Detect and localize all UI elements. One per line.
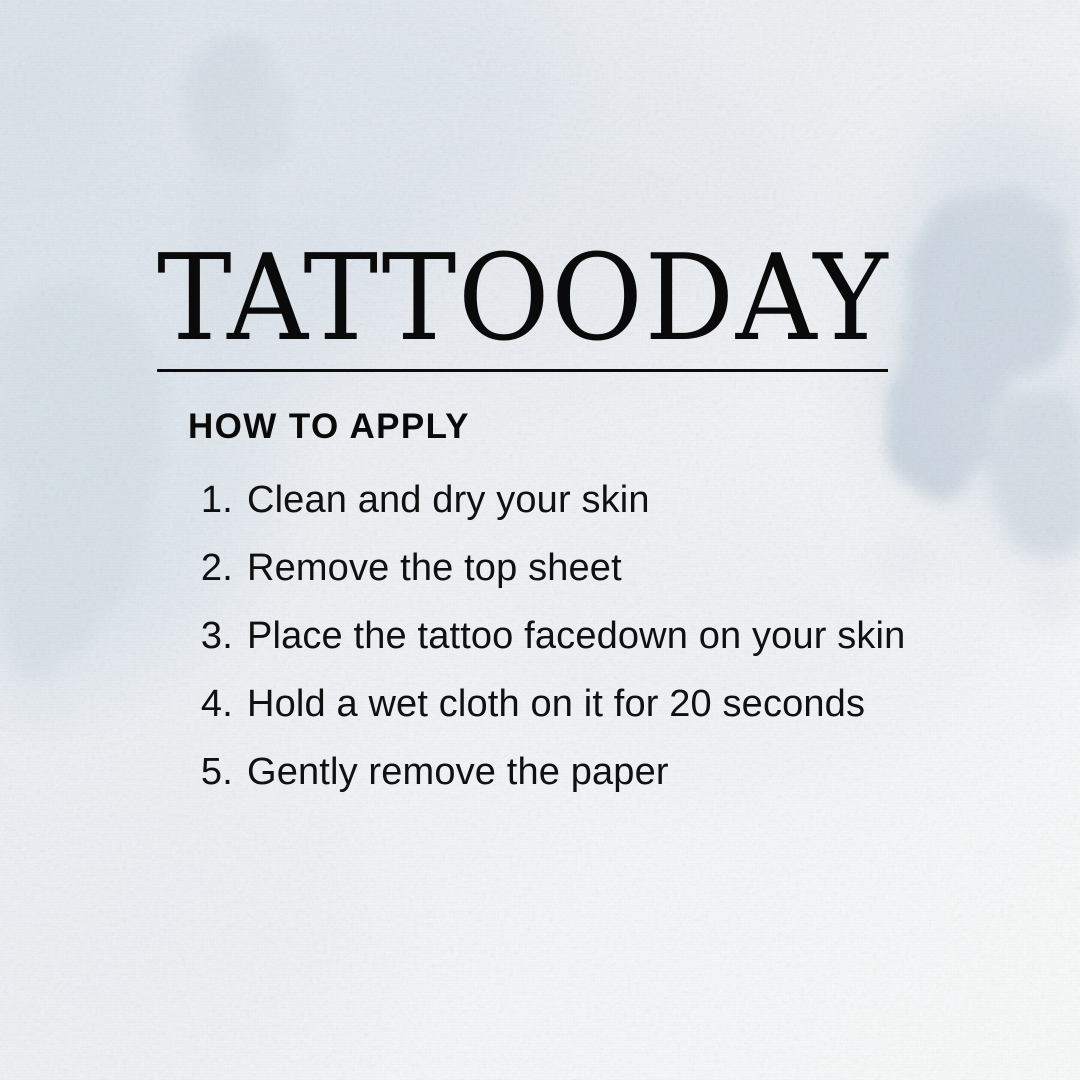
step-text: Clean and dry your skin (247, 466, 650, 534)
title-divider-rule (157, 369, 888, 372)
list-item: 2. Remove the top sheet (186, 534, 905, 602)
step-number: 1. (186, 466, 233, 534)
list-item: 3. Place the tattoo facedown on your ski… (186, 602, 905, 670)
list-item: 4. Hold a wet cloth on it for 20 seconds (186, 670, 905, 738)
list-item: 5. Gently remove the paper (186, 738, 905, 806)
step-text: Gently remove the paper (247, 738, 669, 806)
step-text: Place the tattoo facedown on your skin (247, 602, 905, 670)
step-text: Hold a wet cloth on it for 20 seconds (247, 670, 865, 738)
step-number: 2. (186, 534, 233, 602)
step-number: 3. (186, 602, 233, 670)
how-to-apply-steps-list: 1. Clean and dry your skin 2. Remove the… (186, 466, 905, 806)
section-heading-how-to-apply: HOW TO APPLY (188, 408, 470, 447)
step-number: 5. (186, 738, 233, 806)
poster-content: TATTOODAY HOW TO APPLY 1. Clean and dry … (0, 0, 1080, 1080)
step-text: Remove the top sheet (247, 534, 622, 602)
brand-title: TATTOODAY (157, 239, 888, 358)
poster-canvas: TATTOODAY HOW TO APPLY 1. Clean and dry … (0, 0, 1080, 1080)
list-item: 1. Clean and dry your skin (186, 466, 905, 534)
step-number: 4. (186, 670, 233, 738)
